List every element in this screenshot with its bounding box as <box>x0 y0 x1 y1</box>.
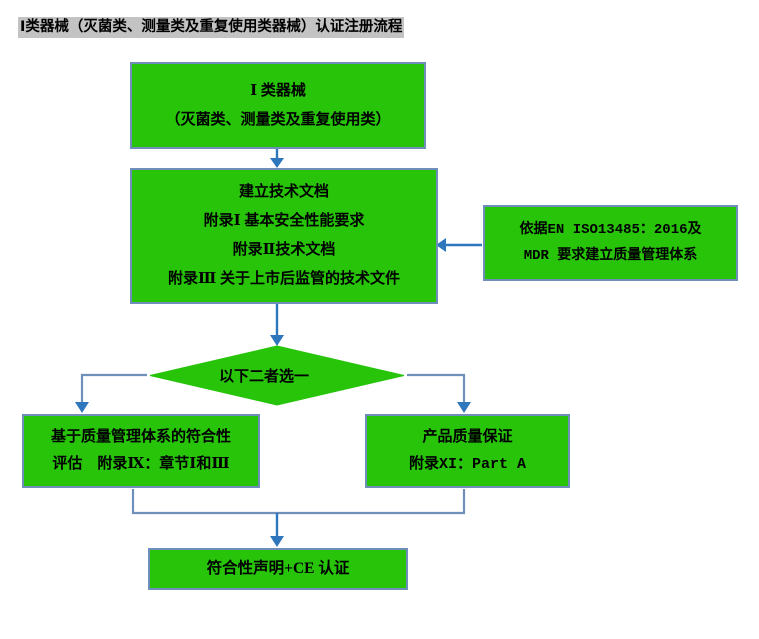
edge-routes-to-doc <box>133 489 464 547</box>
node-product-quality-assurance[interactable]: 产品质量保证 附录XI：Part A <box>365 414 570 488</box>
node-establish-technical-documentation[interactable]: 建立技术文档 附录Ⅰ 基本安全性能要求 附录Ⅱ技术文档 附录Ⅲ 关于上市后监管的… <box>130 168 438 304</box>
node-line: 以下二者选一 <box>148 345 406 406</box>
node-class-i-device[interactable]: Ⅰ 类器械 （灭菌类、测量类及重复使用类） <box>130 62 426 149</box>
node-qms-conformity-assessment[interactable]: 基于质量管理体系的符合性 评估 附录Ⅸ：章节Ⅰ和Ⅲ <box>22 414 260 488</box>
page-title: Ⅰ类器械（灭菌类、测量类及重复使用类器械）认证注册流程 <box>18 17 404 38</box>
edge-decision-to-routeB <box>407 375 471 413</box>
node-line: 附录Ⅲ 关于上市后监管的技术文件 <box>168 272 400 287</box>
node-line: 附录Ⅱ技术文档 <box>233 243 336 258</box>
edge-class1-to-techdoc <box>270 149 284 168</box>
node-line: 基于质量管理体系的符合性 <box>51 430 231 445</box>
node-line: MDR 要求建立质量管理体系 <box>524 249 698 263</box>
edge-decision-to-routeA <box>75 375 147 413</box>
node-line: （灭菌类、测量类及重复使用类） <box>165 113 390 128</box>
node-line: 评估 附录Ⅸ：章节Ⅰ和Ⅲ <box>52 457 229 472</box>
node-line: 符合性声明+CE 认证 <box>207 561 350 577</box>
node-declaration-of-conformity-ce[interactable]: 符合性声明+CE 认证 <box>148 548 408 590</box>
node-line: 依据EN ISO13485：2016及 <box>519 223 701 237</box>
flowchart-canvas: Ⅰ类器械（灭菌类、测量类及重复使用类器械）认证注册流程 <box>0 0 759 639</box>
node-quality-management-system-requirement[interactable]: 依据EN ISO13485：2016及 MDR 要求建立质量管理体系 <box>483 205 738 281</box>
node-line: 附录XI：Part A <box>409 457 526 472</box>
edge-techdoc-to-decision <box>270 304 284 346</box>
edge-qms-to-techdoc <box>436 238 482 252</box>
node-line: 附录Ⅰ 基本安全性能要求 <box>204 214 365 229</box>
node-choose-one-of-two[interactable]: 以下二者选一 <box>148 345 406 406</box>
node-line: 产品质量保证 <box>422 430 512 445</box>
node-line: 建立技术文档 <box>239 185 329 200</box>
node-line: Ⅰ 类器械 <box>250 84 306 99</box>
